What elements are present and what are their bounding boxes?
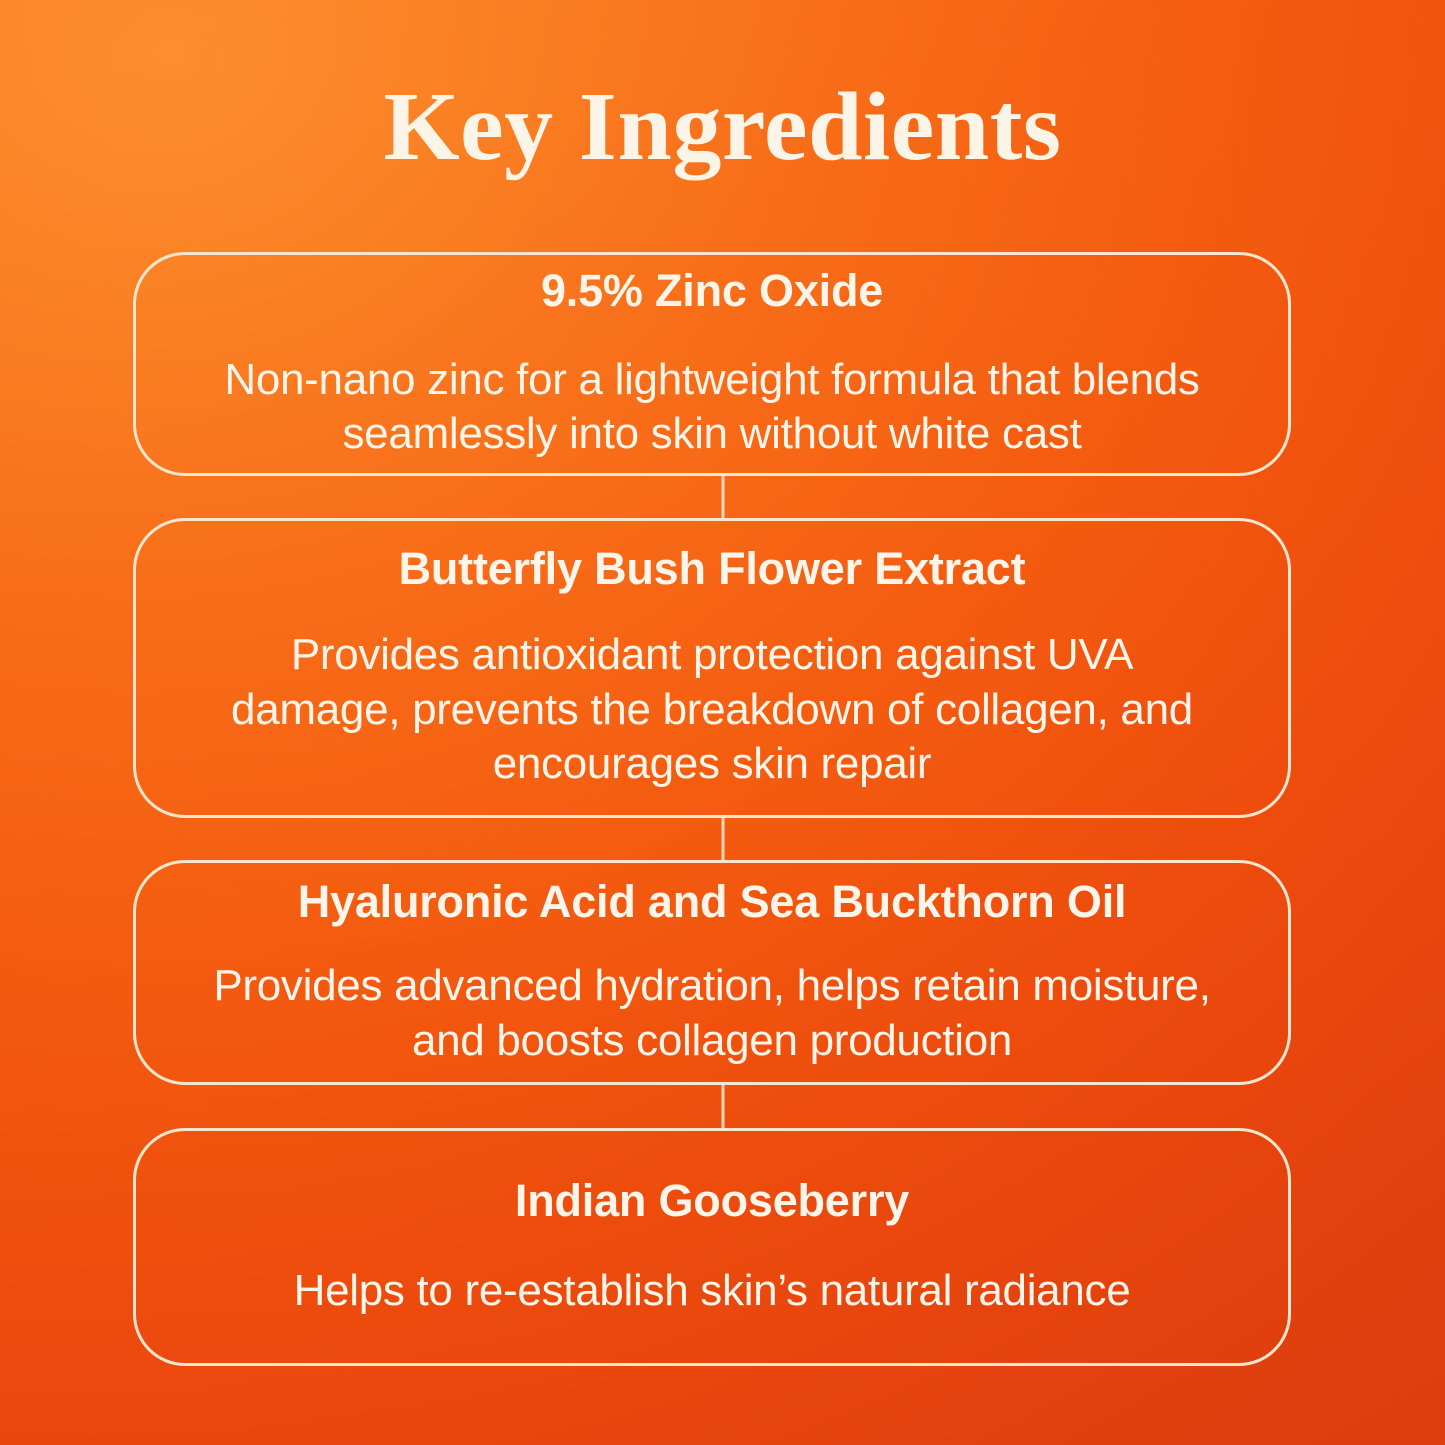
ingredient-title: Hyaluronic Acid and Sea Buckthorn Oil	[298, 877, 1127, 927]
ingredient-card: Butterfly Bush Flower Extract Provides a…	[133, 518, 1291, 818]
ingredient-title: 9.5% Zinc Oxide	[541, 266, 883, 316]
ingredient-description: Provides antioxidant protection against …	[207, 628, 1217, 792]
ingredient-card-list: 9.5% Zinc Oxide Non-nano zinc for a ligh…	[0, 0, 1445, 1445]
ingredient-card: Indian Gooseberry Helps to re-establish …	[133, 1128, 1291, 1366]
card-connector-line	[721, 1084, 724, 1130]
ingredient-title: Indian Gooseberry	[515, 1176, 909, 1226]
card-connector-line	[721, 817, 724, 862]
page-title: Key Ingredients	[0, 78, 1445, 176]
ingredient-title: Butterfly Bush Flower Extract	[399, 544, 1026, 594]
ingredient-description: Provides advanced hydration, helps retai…	[207, 959, 1217, 1068]
card-connector-line	[721, 476, 724, 520]
key-ingredients-poster: Key Ingredients 9.5% Zinc Oxide Non-nano…	[0, 0, 1445, 1445]
ingredient-card: Hyaluronic Acid and Sea Buckthorn Oil Pr…	[133, 860, 1291, 1085]
ingredient-description: Helps to re-establish skin’s natural rad…	[294, 1264, 1131, 1319]
ingredient-description: Non-nano zinc for a lightweight formula …	[207, 353, 1217, 462]
ingredient-card: 9.5% Zinc Oxide Non-nano zinc for a ligh…	[133, 252, 1291, 476]
